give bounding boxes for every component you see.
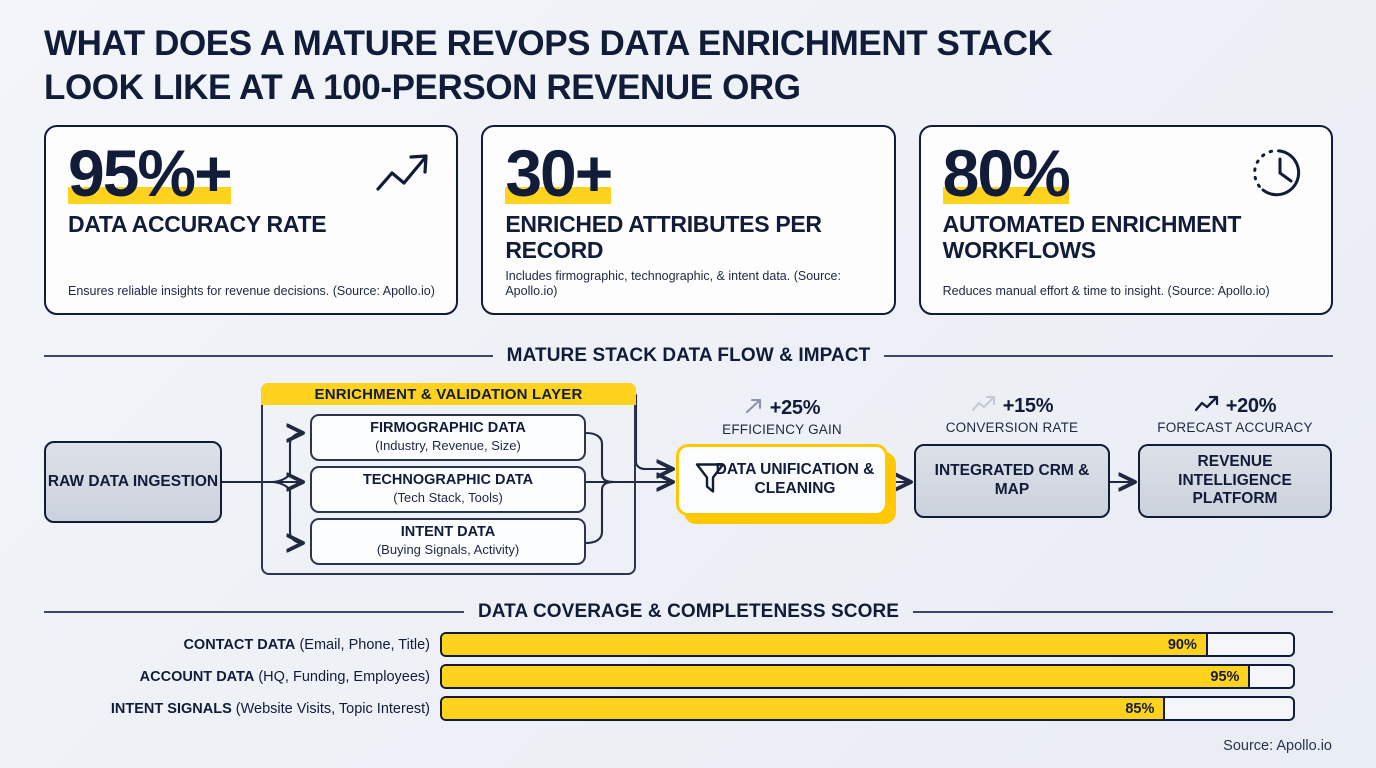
stat-note-1: Ensures reliable insights for revenue de…	[68, 284, 440, 299]
enrichment-layer-header: ENRICHMENT & VALIDATION LAYER	[261, 383, 636, 405]
stat-card-attributes: 30+ ENRICHED ATTRIBUTES PER RECORD Inclu…	[481, 125, 895, 315]
stat-card-workflows: 80% AUTOMATED ENRICHMENT WORKFLOWS Reduc…	[919, 125, 1333, 315]
rule-left-flow	[44, 355, 493, 357]
metric-efficiency-value: +25%	[770, 397, 821, 420]
stat-value-wrap-1: 95%+	[68, 141, 231, 206]
bar-row: ACCOUNT DATA (HQ, Funding, Employees) 95…	[44, 664, 1333, 689]
stat-value-wrap-3: 80%	[943, 141, 1069, 206]
node-integrated-crm-label: INTEGRATED CRM & MAP	[916, 462, 1108, 500]
bar-value-intent: 85%	[1125, 701, 1154, 717]
page-title: WHAT DOES A MATURE REVOPS DATA ENRICHMEN…	[44, 22, 1244, 110]
bar-fill-account: 95%	[442, 666, 1250, 687]
trend-arrow-icon	[971, 394, 997, 419]
metric-forecast-label: FORECAST ACCURACY	[1140, 420, 1330, 435]
node-revenue-intelligence[interactable]: REVENUE INTELLIGENCE PLATFORM	[1138, 444, 1332, 518]
node-data-unification[interactable]: DATA UNIFICATION & CLEANING	[676, 444, 888, 516]
metric-forecast-value: +20%	[1226, 395, 1277, 418]
section-title-coverage: DATA COVERAGE & COMPLETENESS SCORE	[478, 601, 899, 623]
node-technographic-data[interactable]: TECHNOGRAPHIC DATA (Tech Stack, Tools)	[310, 466, 586, 513]
node-intent-data[interactable]: INTENT DATA (Buying Signals, Activity)	[310, 518, 586, 565]
node-raw-data-ingestion-label: RAW DATA INGESTION	[48, 473, 218, 492]
bar-label-contact: CONTACT DATA (Email, Phone, Title)	[44, 637, 440, 653]
bar-value-contact: 90%	[1168, 637, 1197, 653]
rule-left-coverage	[44, 611, 464, 613]
bar-track-intent: 85%	[440, 696, 1295, 721]
stat-label-2: ENRICHED ATTRIBUTES PER RECORD	[505, 211, 871, 263]
intent-detail: (Buying Signals, Activity)	[377, 543, 519, 558]
node-data-unification-label: DATA UNIFICATION & CLEANING	[705, 461, 885, 498]
bar-label-intent: INTENT SIGNALS (Website Visits, Topic In…	[44, 701, 440, 717]
stat-value-3: 80%	[943, 141, 1069, 206]
clock-icon	[1249, 145, 1311, 201]
metric-conversion-rate: +15% CONVERSION RATE	[917, 394, 1107, 435]
metric-conversion-label: CONVERSION RATE	[917, 420, 1107, 435]
intent-title: INTENT DATA	[401, 525, 496, 541]
rule-right-flow	[884, 355, 1333, 357]
coverage-bar-chart: CONTACT DATA (Email, Phone, Title) 90% A…	[44, 632, 1333, 728]
bar-fill-contact: 90%	[442, 634, 1208, 655]
stat-card-accuracy: 95%+ DATA ACCURACY RATE Ensures reliable…	[44, 125, 458, 315]
bar-label-account: ACCOUNT DATA (HQ, Funding, Employees)	[44, 669, 440, 685]
metric-efficiency-row: +25%	[687, 396, 877, 421]
technographic-title: TECHNOGRAPHIC DATA	[363, 473, 533, 489]
trend-arrow-icon	[1194, 394, 1220, 419]
stat-value-1: 95%+	[68, 141, 231, 206]
bar-label-account-paren: (HQ, Funding, Employees)	[258, 669, 430, 685]
bar-track-account: 95%	[440, 664, 1295, 689]
firmographic-title: FIRMOGRAPHIC DATA	[370, 421, 526, 437]
node-revenue-intelligence-label: REVENUE INTELLIGENCE PLATFORM	[1140, 453, 1330, 510]
metric-efficiency-gain: +25% EFFICIENCY GAIN	[687, 396, 877, 437]
section-heading-coverage: DATA COVERAGE & COMPLETENESS SCORE	[44, 601, 1333, 623]
arrow-up-right-icon	[744, 396, 764, 421]
node-integrated-crm[interactable]: INTEGRATED CRM & MAP	[914, 444, 1110, 518]
stat-note-2: Includes firmographic, technographic, & …	[505, 269, 877, 299]
bar-label-contact-strong: CONTACT DATA	[183, 637, 295, 653]
bar-row: CONTACT DATA (Email, Phone, Title) 90%	[44, 632, 1333, 657]
trend-arrow-icon	[374, 145, 436, 201]
stat-value-2: 30+	[505, 141, 611, 206]
stat-note-3: Reduces manual effort & time to insight.…	[943, 284, 1315, 299]
stat-label-1: DATA ACCURACY RATE	[68, 211, 434, 237]
metric-forecast-accuracy: +20% FORECAST ACCURACY	[1140, 394, 1330, 435]
bar-track-contact: 90%	[440, 632, 1295, 657]
bar-label-contact-paren: (Email, Phone, Title)	[299, 637, 430, 653]
stat-label-3: AUTOMATED ENRICHMENT WORKFLOWS	[943, 211, 1309, 263]
infographic-page: WHAT DOES A MATURE REVOPS DATA ENRICHMEN…	[0, 0, 1376, 768]
node-raw-data-ingestion[interactable]: RAW DATA INGESTION	[44, 441, 222, 523]
section-title-flow: MATURE STACK DATA FLOW & IMPACT	[507, 345, 871, 367]
page-title-line-2: LOOK LIKE AT A 100-PERSON REVENUE ORG	[44, 66, 1244, 110]
bar-label-intent-strong: INTENT SIGNALS	[111, 701, 232, 717]
bar-row: INTENT SIGNALS (Website Visits, Topic In…	[44, 696, 1333, 721]
section-heading-flow: MATURE STACK DATA FLOW & IMPACT	[44, 345, 1333, 367]
stat-value-wrap-2: 30+	[505, 141, 611, 206]
bar-label-intent-paren: (Website Visits, Topic Interest)	[236, 701, 430, 717]
funnel-icon	[693, 459, 727, 502]
metric-forecast-row: +20%	[1140, 394, 1330, 419]
bar-value-account: 95%	[1210, 669, 1239, 685]
source-note: Source: Apollo.io	[1223, 738, 1332, 754]
metric-efficiency-label: EFFICIENCY GAIN	[687, 422, 877, 437]
bar-fill-intent: 85%	[442, 698, 1165, 719]
metric-conversion-row: +15%	[917, 394, 1107, 419]
metric-conversion-value: +15%	[1003, 395, 1054, 418]
stat-card-row: 95%+ DATA ACCURACY RATE Ensures reliable…	[44, 125, 1333, 315]
technographic-detail: (Tech Stack, Tools)	[393, 491, 503, 506]
rule-right-coverage	[913, 611, 1333, 613]
firmographic-detail: (Industry, Revenue, Size)	[375, 439, 521, 454]
enrichment-layer-header-label: ENRICHMENT & VALIDATION LAYER	[314, 386, 582, 403]
bar-label-account-strong: ACCOUNT DATA	[140, 669, 255, 685]
page-title-line-1: WHAT DOES A MATURE REVOPS DATA ENRICHMEN…	[44, 22, 1244, 66]
node-firmographic-data[interactable]: FIRMOGRAPHIC DATA (Industry, Revenue, Si…	[310, 414, 586, 461]
